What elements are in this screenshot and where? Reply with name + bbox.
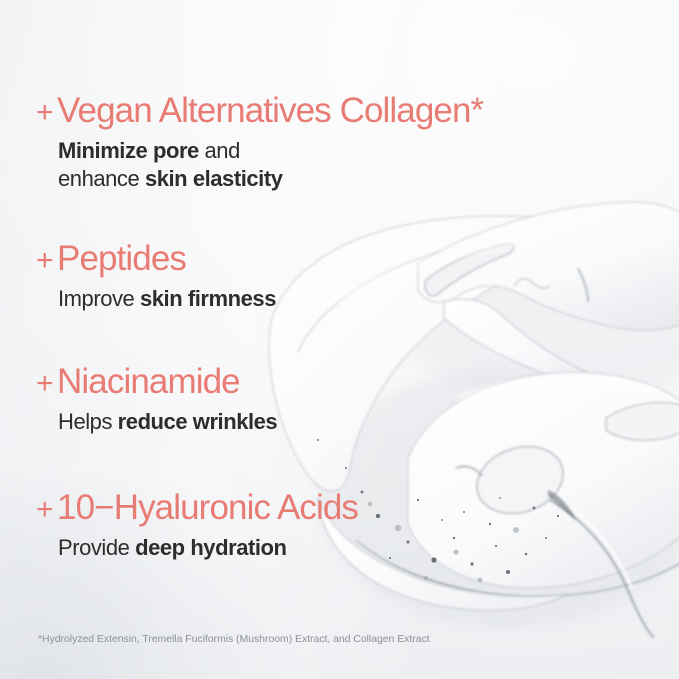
description-regular: Helps	[58, 409, 118, 434]
benefit-item-peptides: + Peptides Improve skin firmness	[36, 240, 276, 313]
benefit-description: Improve skin firmness	[58, 285, 276, 314]
description-line: Provide deep hydration	[58, 534, 358, 563]
benefit-description: Helps reduce wrinkles	[58, 408, 277, 437]
description-regular: Provide	[58, 535, 135, 560]
description-regular: Improve	[58, 286, 140, 311]
benefit-description: Minimize pore and enhance skin elasticit…	[58, 137, 483, 194]
benefit-item-hyaluronic-acids: + 10−Hyaluronic Acids Provide deep hydra…	[36, 489, 358, 562]
product-infographic: + Vegan Alternatives Collagen* Minimize …	[0, 0, 679, 679]
description-bold: Minimize pore	[58, 138, 199, 163]
plus-icon: +	[36, 98, 53, 128]
description-line: enhance skin elasticity	[58, 165, 483, 194]
plus-icon: +	[36, 369, 53, 399]
headline-label: Niacinamide	[57, 363, 240, 401]
plus-icon: +	[36, 495, 53, 525]
headline-label: Peptides	[57, 240, 186, 278]
benefit-headline: + Vegan Alternatives Collagen*	[36, 92, 483, 130]
benefit-headline: + 10−Hyaluronic Acids	[36, 489, 358, 527]
description-regular: enhance	[58, 166, 145, 191]
description-regular: and	[199, 138, 240, 163]
description-line: Improve skin firmness	[58, 285, 276, 314]
benefit-headline: + Peptides	[36, 240, 276, 278]
benefit-list: + Vegan Alternatives Collagen* Minimize …	[0, 0, 679, 679]
benefit-description: Provide deep hydration	[58, 534, 358, 563]
plus-icon: +	[36, 246, 53, 276]
description-bold: deep hydration	[135, 535, 286, 560]
benefit-item-niacinamide: + Niacinamide Helps reduce wrinkles	[36, 363, 277, 436]
description-line: Helps reduce wrinkles	[58, 408, 277, 437]
description-bold: skin elasticity	[145, 166, 283, 191]
description-bold: reduce wrinkles	[118, 409, 278, 434]
benefit-item-vegan-collagen: + Vegan Alternatives Collagen* Minimize …	[36, 92, 483, 194]
ingredient-footnote: *Hydrolyzed Extensin, Tremella Fuciformi…	[38, 633, 430, 646]
headline-label: Vegan Alternatives Collagen*	[57, 92, 483, 130]
description-bold: skin firmness	[140, 286, 276, 311]
benefit-headline: + Niacinamide	[36, 363, 277, 401]
description-line: Minimize pore and	[58, 137, 483, 166]
headline-label: 10−Hyaluronic Acids	[57, 489, 358, 527]
